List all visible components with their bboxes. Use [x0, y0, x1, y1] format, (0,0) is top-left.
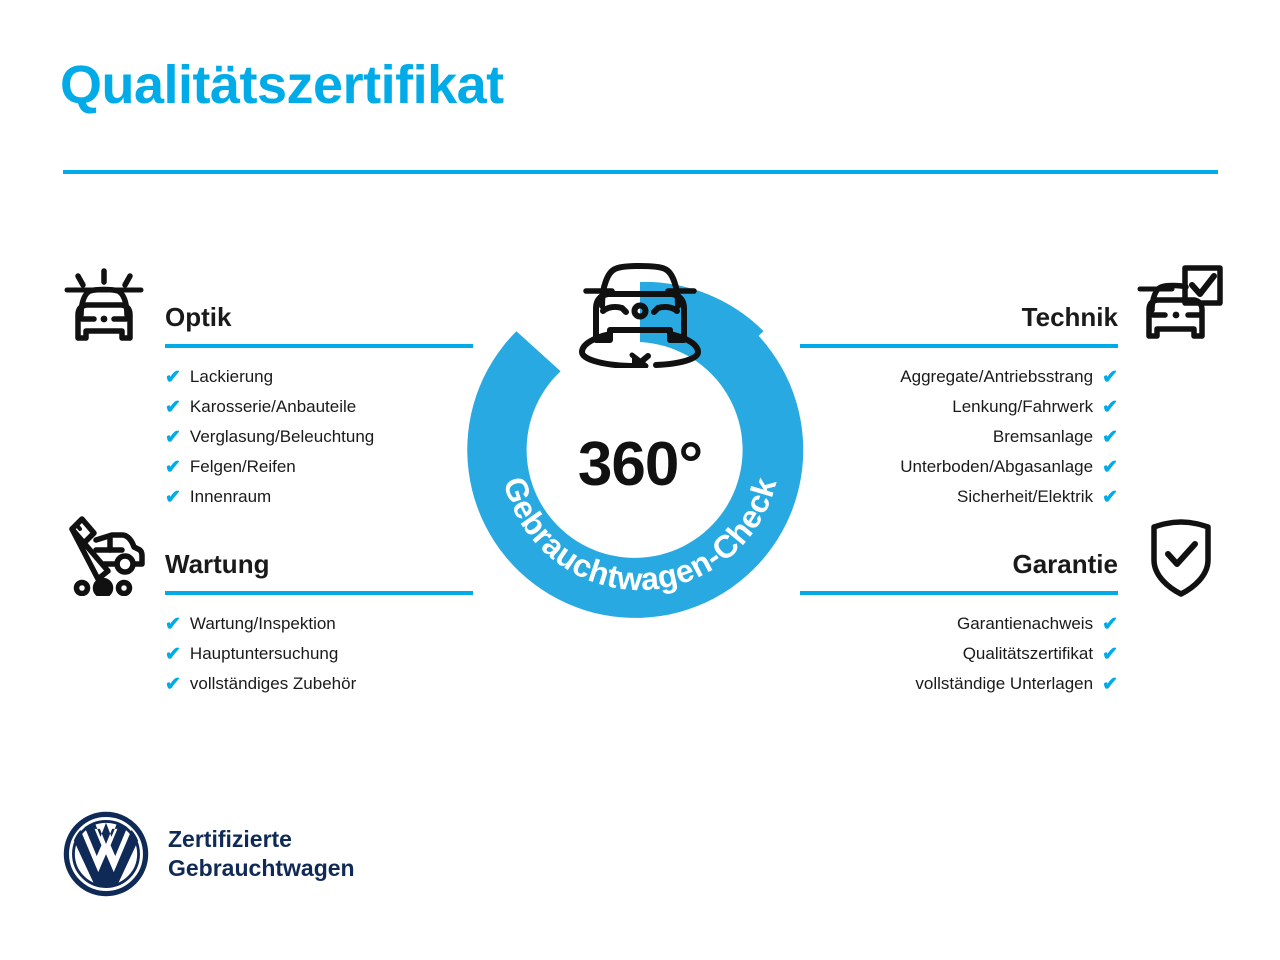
list-item-label: Bremsanlage [993, 422, 1093, 452]
list-item-label: vollständiges Zubehör [190, 669, 356, 699]
check-icon: ✔ [1102, 615, 1118, 634]
section-wartung-header: Wartung [165, 547, 473, 591]
list-item-label: vollständige Unterlagen [915, 669, 1093, 699]
list-item-label: Lackierung [190, 362, 273, 392]
list-item-label: Qualitätszertifikat [963, 639, 1093, 669]
footer-line-1: Zertifizierte [168, 825, 355, 854]
list-item: ✔Karosserie/Anbauteile [165, 392, 473, 422]
list-item-label: Innenraum [190, 482, 271, 512]
list-item: ✔vollständige Unterlagen [800, 669, 1118, 699]
check-icon: ✔ [165, 488, 181, 507]
gebrauchtwagen-check-badge: Gebrauchtwagen-Check 360° [455, 248, 825, 630]
list-item: ✔Wartung/Inspektion [165, 609, 473, 639]
list-item-label: Garantienachweis [957, 609, 1093, 639]
section-wartung-list: ✔Wartung/Inspektion ✔Hauptuntersuchung ✔… [165, 609, 473, 699]
section-optik-list: ✔Lackierung ✔Karosserie/Anbauteile ✔Verg… [165, 362, 473, 512]
section-garantie-rule [800, 591, 1118, 595]
list-item-label: Aggregate/Antriebsstrang [900, 362, 1093, 392]
section-garantie-title: Garantie [800, 547, 1118, 581]
section-wartung: Wartung ✔Wartung/Inspektion ✔Hauptunters… [165, 547, 473, 699]
section-wartung-title: Wartung [165, 547, 473, 581]
list-item: ✔Garantienachweis [800, 609, 1118, 639]
list-item-label: Unterboden/Abgasanlage [900, 452, 1093, 482]
list-item: ✔Lenkung/Fahrwerk [800, 392, 1118, 422]
check-icon: ✔ [165, 368, 181, 387]
section-technik-list: ✔Aggregate/Antriebsstrang ✔Lenkung/Fahrw… [800, 362, 1118, 512]
check-icon: ✔ [165, 645, 181, 664]
section-optik: Optik ✔Lackierung ✔Karosserie/Anbauteile… [165, 300, 473, 512]
check-icon: ✔ [1102, 428, 1118, 447]
list-item: ✔Aggregate/Antriebsstrang [800, 362, 1118, 392]
list-item-label: Sicherheit/Elektrik [957, 482, 1093, 512]
check-icon: ✔ [1102, 645, 1118, 664]
section-technik-rule [800, 344, 1118, 348]
shield-check-icon [1148, 518, 1214, 598]
section-optik-title: Optik [165, 300, 473, 334]
list-item: ✔Verglasung/Beleuchtung [165, 422, 473, 452]
list-item-label: Felgen/Reifen [190, 452, 296, 482]
check-icon: ✔ [1102, 488, 1118, 507]
check-icon: ✔ [1102, 675, 1118, 694]
list-item: ✔Unterboden/Abgasanlage [800, 452, 1118, 482]
footer-text: Zertifizierte Gebrauchtwagen [168, 825, 355, 883]
vw-certified-lockup: Zertifizierte Gebrauchtwagen [62, 810, 355, 898]
header-divider [63, 170, 1218, 174]
section-garantie: Garantie ✔Garantienachweis ✔Qualitätszer… [800, 547, 1118, 699]
list-item: ✔Felgen/Reifen [165, 452, 473, 482]
section-optik-rule [165, 344, 473, 348]
list-item: ✔Sicherheit/Elektrik [800, 482, 1118, 512]
section-garantie-header: Garantie [800, 547, 1118, 591]
car-checkbox-icon [1136, 264, 1224, 346]
check-icon: ✔ [165, 675, 181, 694]
check-icon: ✔ [1102, 368, 1118, 387]
section-optik-header: Optik [165, 300, 473, 344]
footer-line-2: Gebrauchtwagen [168, 854, 355, 883]
list-item-label: Lenkung/Fahrwerk [952, 392, 1093, 422]
section-technik-header: Technik [800, 300, 1118, 344]
list-item: ✔Bremsanlage [800, 422, 1118, 452]
check-icon: ✔ [165, 458, 181, 477]
list-item-label: Verglasung/Beleuchtung [190, 422, 374, 452]
list-item: ✔Lackierung [165, 362, 473, 392]
check-icon: ✔ [1102, 398, 1118, 417]
list-item: ✔Qualitätszertifikat [800, 639, 1118, 669]
page-title: Qualitätszertifikat [60, 56, 504, 115]
list-item: ✔vollständiges Zubehör [165, 669, 473, 699]
section-garantie-list: ✔Garantienachweis ✔Qualitätszertifikat ✔… [800, 609, 1118, 699]
list-item-label: Hauptuntersuchung [190, 639, 338, 669]
list-item-label: Karosserie/Anbauteile [190, 392, 356, 422]
service-book-car-icon [60, 512, 148, 596]
list-item: ✔Hauptuntersuchung [165, 639, 473, 669]
check-icon: ✔ [1102, 458, 1118, 477]
check-icon: ✔ [165, 428, 181, 447]
badge-value: 360° [455, 434, 825, 496]
car-rotate-icon [560, 250, 720, 368]
list-item-label: Wartung/Inspektion [190, 609, 336, 639]
section-technik: Technik ✔Aggregate/Antriebsstrang ✔Lenku… [800, 300, 1118, 512]
volkswagen-logo [62, 810, 150, 898]
check-icon: ✔ [165, 398, 181, 417]
list-item: ✔Innenraum [165, 482, 473, 512]
section-technik-title: Technik [800, 300, 1118, 334]
section-wartung-rule [165, 591, 473, 595]
car-shine-icon [60, 262, 148, 346]
check-icon: ✔ [165, 615, 181, 634]
